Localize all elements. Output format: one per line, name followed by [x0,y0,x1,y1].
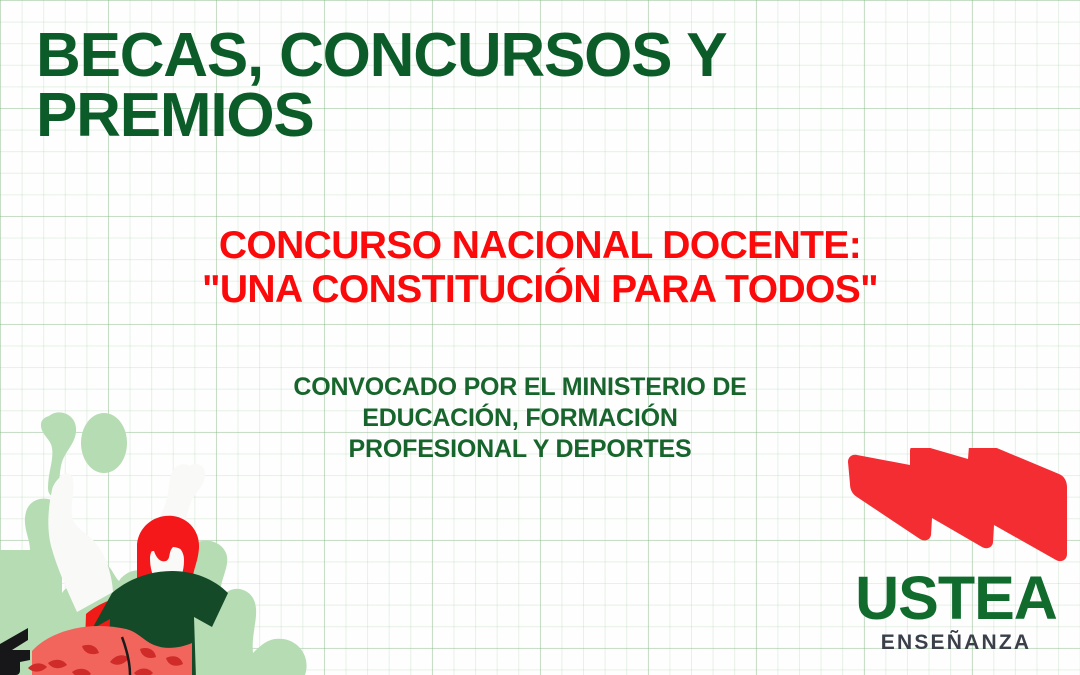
page-title: BECAS, CONCURSOS Y PREMIOS [36,26,936,146]
contest-title: CONCURSO NACIONAL DOCENTE: "UNA CONSTITU… [40,224,1040,313]
contest-line-1: CONCURSO NACIONAL DOCENTE: [40,224,1040,268]
ustea-logo: USTEA ENSEÑANZA [840,448,1072,666]
headline-line-1: BECAS, CONCURSOS Y [36,26,936,86]
contest-line-2: "UNA CONSTITUCIÓN PARA TODOS" [40,268,1040,312]
ustea-wordmark: USTEA [840,568,1072,629]
poster-canvas: BECAS, CONCURSOS Y PREMIOS CONCURSO NACI… [0,0,1080,675]
organizer-line-2: EDUCACIÓN, FORMACIÓN [150,403,890,434]
organizer-line-1: CONVOCADO POR EL MINISTERIO DE [150,372,890,403]
headline-line-2: PREMIOS [36,86,936,146]
organizer-text: CONVOCADO POR EL MINISTERIO DE EDUCACIÓN… [150,372,890,464]
organizer-line-3: PROFESIONAL Y DEPORTES [150,434,890,465]
ustea-zigzag-flag-icon [840,448,1072,573]
ustea-tagline: ENSEÑANZA [840,632,1072,653]
